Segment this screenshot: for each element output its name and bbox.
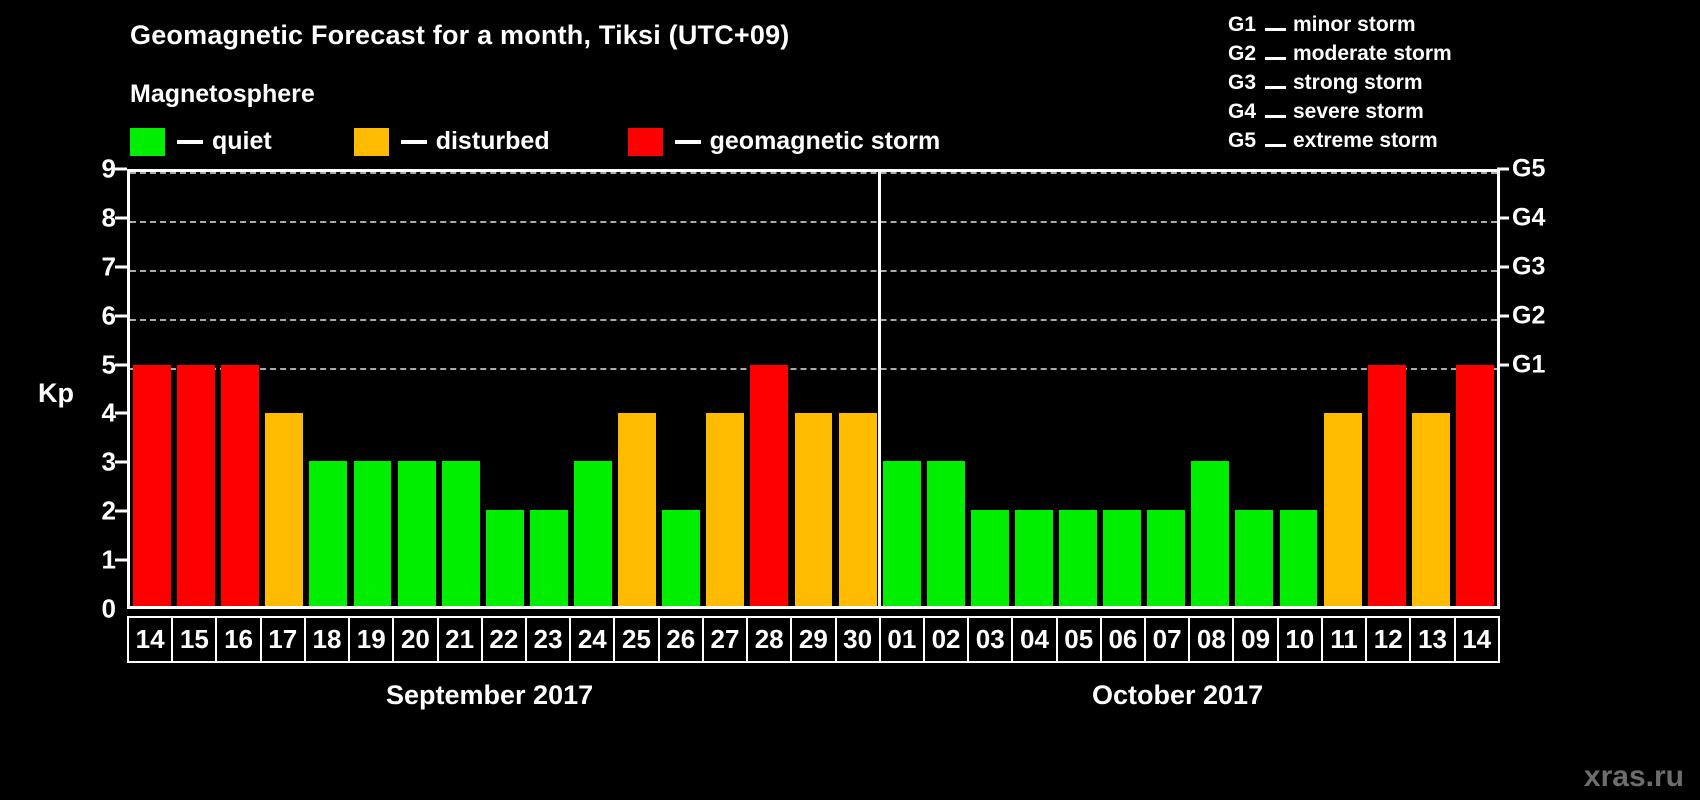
bar-cell [791,172,835,606]
g-scale-code: G5 [1228,126,1262,155]
bar-day-22 [486,510,524,606]
y-tick-3: 3 [76,447,116,478]
day-label-01: 01 [881,618,925,661]
g-tick-g4: G4 [1512,203,1545,232]
bar-day-30 [839,413,877,606]
day-label-10: 10 [1279,618,1323,661]
bar-cell [1144,172,1188,606]
day-label-17: 17 [262,618,306,661]
y-tick-mark-3 [115,461,127,464]
day-label-04: 04 [1013,618,1057,661]
g-scale-dash [1265,28,1286,31]
bar-cell [1321,172,1365,606]
day-label-09: 09 [1234,618,1278,661]
bar-cell [306,172,350,606]
day-label-13: 13 [1411,618,1455,661]
bar-cell [1232,172,1276,606]
legend-label-disturbed: disturbed [436,127,550,156]
g-tick-g2: G2 [1512,301,1545,330]
bar-series [130,172,1497,606]
g-scale-code: G1 [1228,10,1262,39]
bar-day-27 [706,413,744,606]
legend-dash-disturbed [401,140,427,144]
bar-day-02 [927,461,965,606]
g-scale-legend: G1minor stormG2moderate stormG3strong st… [1228,10,1452,155]
y-tick-9: 9 [76,154,116,185]
y-tick-mark-6 [115,314,127,317]
day-label-06: 06 [1102,618,1146,661]
y-tick-mark-5 [115,363,127,366]
legend-label-storm: geomagnetic storm [710,127,941,156]
bar-day-14 [1456,365,1494,606]
legend-swatch-quiet [130,128,165,156]
legend-item-quiet: quiet [130,127,272,156]
g-scale-label: severe storm [1293,97,1424,126]
x-axis-day-labels: 1415161718192021222324252627282930010203… [127,616,1500,663]
y-tick-mark-1 [115,559,127,562]
bar-day-16 [221,365,259,606]
legend-dash-quiet [177,140,203,144]
day-label-29: 29 [792,618,836,661]
bar-day-04 [1015,510,1053,606]
g-scale-label: moderate storm [1293,39,1452,68]
bar-day-03 [971,510,1009,606]
g-scale-row-g5: G5extreme storm [1228,126,1452,155]
bar-cell [527,172,571,606]
day-label-03: 03 [969,618,1013,661]
bar-cell [659,172,703,606]
bar-cell [174,172,218,606]
day-label-14: 14 [129,618,173,661]
bar-day-01 [883,461,921,606]
day-label-11: 11 [1323,618,1367,661]
day-label-05: 05 [1058,618,1102,661]
bar-day-19 [354,461,392,606]
g-scale-code: G3 [1228,68,1262,97]
plot-area [127,169,1500,609]
month-separator-line [878,172,881,606]
day-label-30: 30 [837,618,881,661]
bar-day-05 [1059,510,1097,606]
day-label-12: 12 [1367,618,1411,661]
y-tick-2: 2 [76,496,116,527]
bar-day-20 [398,461,436,606]
y-axis-label: Kp [38,378,74,409]
bar-cell [1276,172,1320,606]
bar-day-14 [133,365,171,606]
day-label-16: 16 [217,618,261,661]
g-scale-dash [1265,57,1286,60]
g-scale-dash [1265,86,1286,89]
bar-day-24 [574,461,612,606]
y-tick-mark-7 [115,265,127,268]
y-tick-4: 4 [76,398,116,429]
g-scale-row-g2: G2moderate storm [1228,39,1452,68]
bar-day-12 [1368,365,1406,606]
month-label-october: October 2017 [1092,680,1263,711]
day-label-08: 08 [1190,618,1234,661]
legend-swatch-disturbed [354,128,389,156]
g-scale-dash [1265,115,1286,118]
bar-day-29 [795,413,833,606]
bar-cell [439,172,483,606]
g-scale-row-g3: G3strong storm [1228,68,1452,97]
bar-day-09 [1235,510,1273,606]
day-label-28: 28 [748,618,792,661]
y-tick-mark-4 [115,412,127,415]
bar-cell [218,172,262,606]
bar-cell [1056,172,1100,606]
day-label-02: 02 [925,618,969,661]
y-tick-1: 1 [76,545,116,576]
day-label-26: 26 [660,618,704,661]
bar-day-28 [750,365,788,606]
day-label-27: 27 [704,618,748,661]
bar-day-26 [662,510,700,606]
g-scale-row-g4: G4severe storm [1228,97,1452,126]
y-tick-mark-2 [115,510,127,513]
bar-cell [836,172,880,606]
g-tick-g5: G5 [1512,155,1545,184]
day-label-25: 25 [615,618,659,661]
bar-day-18 [309,461,347,606]
legend-item-disturbed: disturbed [354,127,550,156]
bar-day-23 [530,510,568,606]
g-scale-label: extreme storm [1293,126,1438,155]
legend-dash-storm [675,140,701,144]
bar-cell [615,172,659,606]
bar-day-11 [1324,413,1362,606]
y-tick-mark-8 [115,216,127,219]
y-tick-mark-9 [115,168,127,171]
bar-cell [1188,172,1232,606]
g-scale-row-g1: G1minor storm [1228,10,1452,39]
day-label-18: 18 [306,618,350,661]
bar-cell [968,172,1012,606]
page-title: Geomagnetic Forecast for a month, Tiksi … [130,20,790,51]
bar-cell [571,172,615,606]
bar-day-13 [1412,413,1450,606]
y-tick-7: 7 [76,251,116,282]
bar-day-25 [618,413,656,606]
bar-cell [1453,172,1497,606]
bar-cell [924,172,968,606]
bar-cell [1012,172,1056,606]
geomagnetic-forecast-chart: Geomagnetic Forecast for a month, Tiksi … [0,0,1700,800]
legend-swatch-storm [628,128,663,156]
day-label-21: 21 [439,618,483,661]
bar-cell [1365,172,1409,606]
y-tick-0: 0 [76,594,116,625]
g-scale-label: minor storm [1293,10,1416,39]
bar-day-08 [1191,461,1229,606]
y-tick-6: 6 [76,300,116,331]
g-scale-dash [1265,144,1286,147]
day-label-14: 14 [1456,618,1498,661]
day-label-15: 15 [173,618,217,661]
day-label-24: 24 [571,618,615,661]
bar-cell [395,172,439,606]
y-tick-8: 8 [76,202,116,233]
day-label-23: 23 [527,618,571,661]
bar-cell [880,172,924,606]
g-scale-label: strong storm [1293,68,1423,97]
bar-day-07 [1147,510,1185,606]
bar-day-17 [265,413,303,606]
month-label-september: September 2017 [386,680,593,711]
watermark: xras.ru [1584,760,1684,794]
bar-cell [350,172,394,606]
bar-day-15 [177,365,215,606]
bar-day-06 [1103,510,1141,606]
bar-cell [1409,172,1453,606]
bar-cell [262,172,306,606]
bar-cell [747,172,791,606]
magnetosphere-label: Magnetosphere [130,80,315,109]
day-label-19: 19 [350,618,394,661]
bar-cell [130,172,174,606]
bar-cell [483,172,527,606]
bar-cell [703,172,747,606]
y-tick-5: 5 [76,349,116,380]
legend-label-quiet: quiet [212,127,272,156]
bar-day-21 [442,461,480,606]
g-tick-g1: G1 [1512,350,1545,379]
day-label-20: 20 [394,618,438,661]
g-scale-code: G4 [1228,97,1262,126]
g-tick-g3: G3 [1512,252,1545,281]
g-scale-code: G2 [1228,39,1262,68]
day-label-22: 22 [483,618,527,661]
bar-cell [1100,172,1144,606]
legend-item-storm: geomagnetic storm [628,127,941,156]
legend: quietdisturbedgeomagnetic storm [130,127,940,156]
day-label-07: 07 [1146,618,1190,661]
bar-day-10 [1280,510,1318,606]
